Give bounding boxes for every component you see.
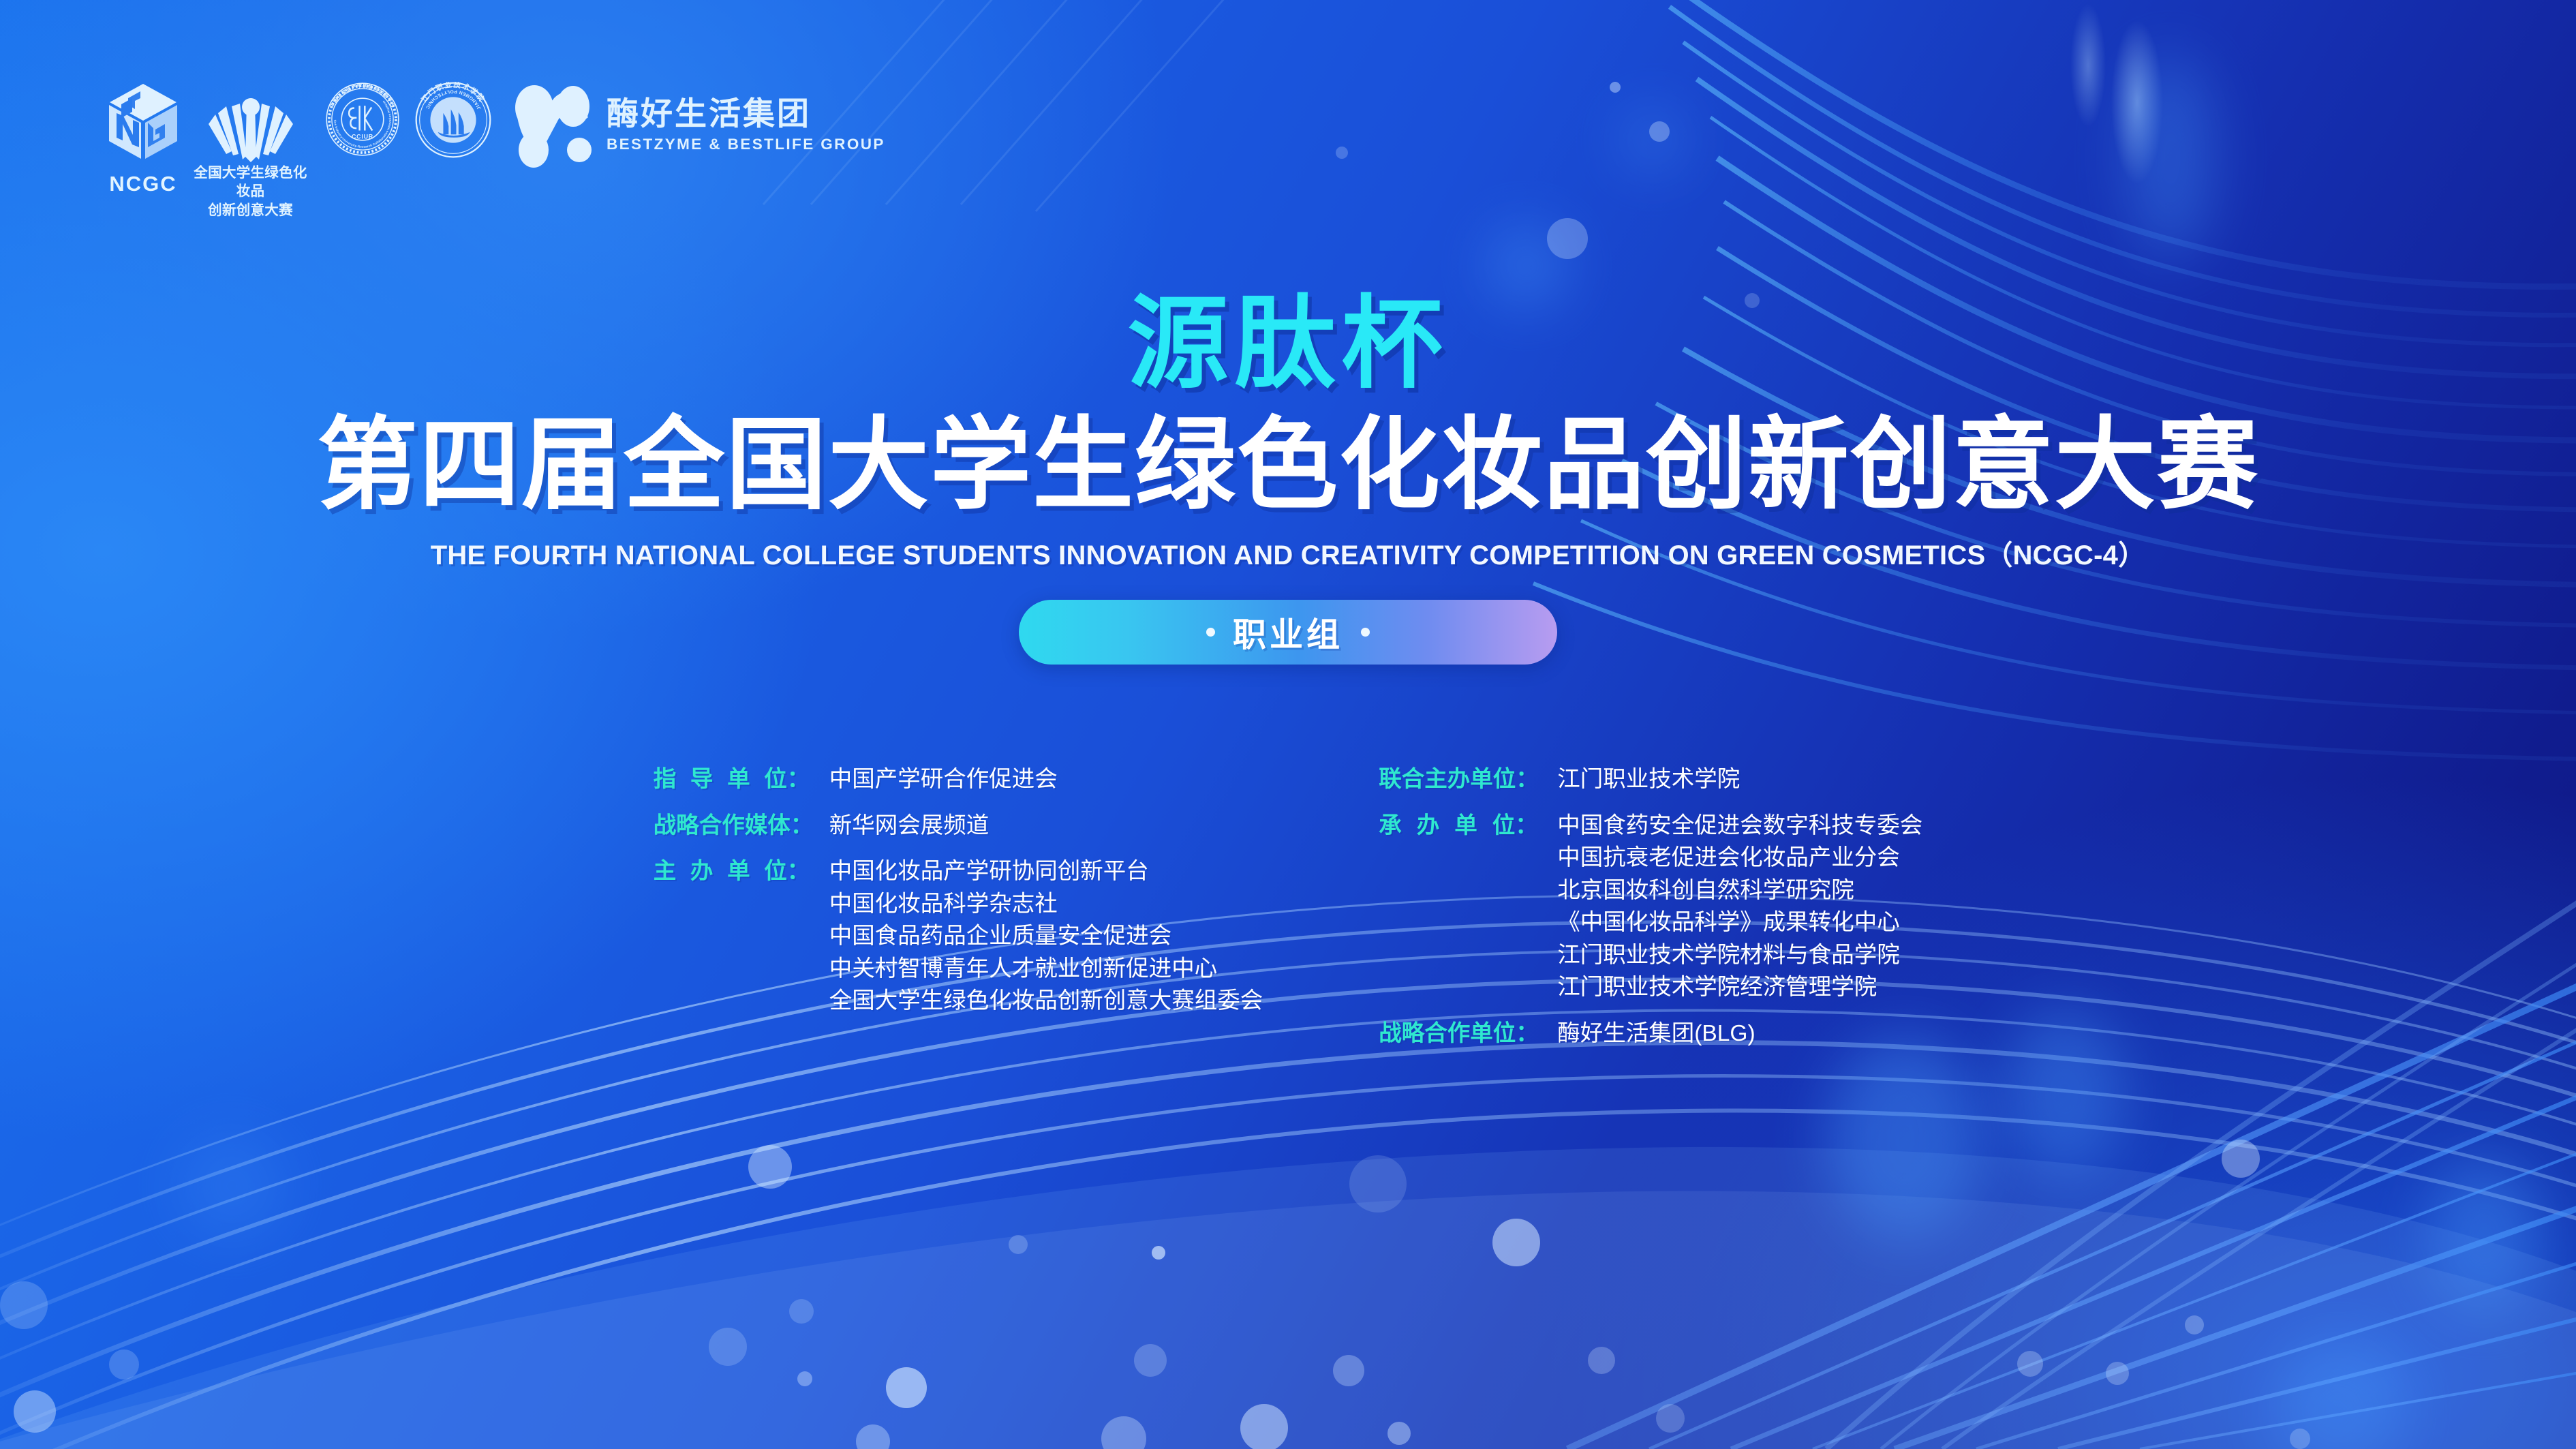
sponsor-value: 新华网会展频道: [829, 810, 990, 842]
sponsor-row: 承办单位：中国食药安全促进会数字科技专委会中国抗衰老促进会化妆品产业分会北京国妆…: [1379, 810, 1922, 1004]
logo-ncgc-cn: 全国大学生绿色化妆品 创新创意大赛: [191, 82, 310, 219]
sponsor-value: 中国食药安全促进会数字科技专委会: [1557, 810, 1922, 842]
sponsor-label: 主办单位：: [654, 855, 820, 888]
sponsor-value: 江门职业技术学院材料与食品学院: [1557, 939, 1922, 972]
group-badge-label: 职业组: [1233, 608, 1343, 656]
sponsor-info-block: 指导单位：中国产学研合作促进会战略合作媒体：新华网会展频道主办单位：中国化妆品产…: [0, 763, 2576, 1053]
bestzyme-cn-name: 酶好生活集团: [607, 97, 885, 129]
sponsor-values: 酶好生活集团(BLG): [1557, 1018, 1755, 1050]
sponsor-value: 江门职业技术学院: [1557, 763, 1740, 796]
sponsor-column-left: 指导单位：中国产学研合作促进会战略合作媒体：新华网会展频道主办单位：中国化妆品产…: [654, 763, 1263, 1053]
sponsor-row: 指导单位：中国产学研合作促进会: [654, 763, 1263, 796]
bestzyme-m-icon: [512, 82, 597, 169]
bestzyme-en-name: BESTZYME & BESTLIFE GROUP: [607, 136, 885, 153]
sponsor-label: 指导单位：: [654, 763, 820, 796]
sponsor-label: 战略合作媒体：: [654, 810, 820, 842]
sponsor-label: 承办单位：: [1379, 810, 1548, 842]
sponsor-value: 中国化妆品产学研协同创新平台: [829, 855, 1263, 888]
sponsor-label: 战略合作单位：: [1379, 1018, 1548, 1050]
sponsor-values: 中国产学研合作促进会: [829, 763, 1058, 796]
sponsor-value: 中国化妆品科学杂志社: [829, 888, 1263, 921]
lotus-emblem-icon: [206, 83, 296, 164]
logo-jiangmen-seal: 江门职业技术学院 JIANGMEN POLYTECHNIC: [415, 82, 491, 158]
sponsor-row: 战略合作媒体：新华网会展频道: [654, 810, 1263, 842]
sponsor-label: 联合主办单位：: [1379, 763, 1548, 796]
ncgc-cube-icon: [105, 82, 181, 162]
sponsor-values: 江门职业技术学院: [1557, 763, 1740, 796]
sponsor-values: 新华网会展频道: [829, 810, 990, 842]
page-title: 第四届全国大学生绿色化妆品创新创意大赛: [0, 414, 2576, 515]
sponsor-value: 中关村智博青年人才就业创新促进中心: [829, 953, 1263, 986]
english-subtitle: THE FOURTH NATIONAL COLLEGE STUDENTS INN…: [0, 533, 2576, 573]
ncgc-cn-line2: 创新创意大赛: [208, 201, 293, 219]
badge-dot-right: [1361, 628, 1370, 637]
group-badge: 职业组: [1019, 600, 1557, 665]
sponsor-value: 全国大学生绿色化妆品创新创意大赛组委会: [829, 985, 1263, 1018]
sponsor-value: 酶好生活集团(BLG): [1557, 1018, 1755, 1050]
headline-block: 源肽杯 第四届全国大学生绿色化妆品创新创意大赛 THE FOURTH NATIO…: [0, 293, 2576, 665]
cciur-abbr: CCIUR: [352, 134, 373, 140]
sponsor-row: 联合主办单位：江门职业技术学院: [1379, 763, 1922, 796]
sponsor-value: 《中国化妆品科学》成果转化中心: [1557, 906, 1922, 939]
sponsor-values: 中国化妆品产学研协同创新平台中国化妆品科学杂志社中国食品药品企业质量安全促进会中…: [829, 855, 1263, 1018]
sponsor-row: 战略合作单位：酶好生活集团(BLG): [1379, 1018, 1922, 1050]
logo-ncgc: NCGC: [102, 82, 184, 196]
sponsor-column-right: 联合主办单位：江门职业技术学院承办单位：中国食药安全促进会数字科技专委会中国抗衰…: [1379, 763, 1922, 1053]
sponsor-value: 江门职业技术学院经济管理学院: [1557, 971, 1922, 1004]
ncgc-logo-name: NCGC: [109, 172, 177, 196]
logo-bestzyme: 酶好生活集团 BESTZYME & BESTLIFE GROUP: [512, 82, 885, 169]
cciur-round-seal-icon: 中国化妆品产学研协同创新平台 China Cosmetics Industry-…: [325, 82, 400, 157]
sponsor-value: 北京国妆科创自然科学研究院: [1557, 874, 1922, 907]
jiangmen-polytechnic-seal-icon: 江门职业技术学院 JIANGMEN POLYTECHNIC: [415, 82, 491, 158]
poster-canvas: NCGC 全国大学生绿色化妆品 创新创意大赛: [0, 0, 2576, 1449]
sponsor-value: 中国抗衰老促进会化妆品产业分会: [1557, 842, 1922, 874]
sponsor-logo-row: NCGC 全国大学生绿色化妆品 创新创意大赛: [102, 82, 885, 219]
sponsor-values: 中国食药安全促进会数字科技专委会中国抗衰老促进会化妆品产业分会北京国妆科创自然科…: [1557, 810, 1922, 1004]
cup-title: 源肽杯: [0, 293, 2576, 394]
sponsor-value: 中国食品药品企业质量安全促进会: [829, 920, 1263, 953]
ncgc-cn-line1: 全国大学生绿色化妆品: [191, 164, 310, 201]
sponsor-value: 中国产学研合作促进会: [829, 763, 1058, 796]
sponsor-row: 主办单位：中国化妆品产学研协同创新平台中国化妆品科学杂志社中国食品药品企业质量安…: [654, 855, 1263, 1018]
badge-dot-left: [1206, 628, 1215, 637]
logo-cciur-seal: 中国化妆品产学研协同创新平台 China Cosmetics Industry-…: [325, 82, 400, 157]
